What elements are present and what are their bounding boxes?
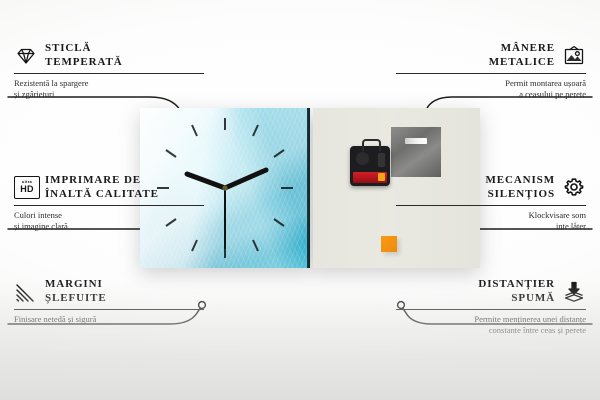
diagonal-lines-icon: [14, 280, 38, 304]
glass-edge: [307, 108, 310, 268]
movement-tab: [378, 153, 385, 167]
callout-rule: [14, 309, 204, 310]
gear-icon: [562, 176, 586, 200]
infographic-canvas: STICLĂ TEMPERATĂ Rezistentă la spargere …: [0, 0, 600, 400]
callout-title: MECANISM SILENȚIOS: [485, 174, 555, 202]
callout-title: DISTANȚIER SPUMĂ: [478, 278, 555, 306]
callout-subtitle: Finisare netedă și sigură: [14, 314, 204, 325]
second-hand: [225, 170, 266, 188]
ultra-hd-icon: ultra HD: [14, 176, 38, 200]
callout-rule: [396, 205, 586, 206]
callout-manere-metalice: MÂNERE METALICE Permit montarea ușoară a…: [396, 42, 586, 100]
callout-rule: [396, 73, 586, 74]
callout-title: IMPRIMARE DE ÎNALTĂ CALITATE: [45, 174, 159, 202]
foam-spacer-icon: [562, 280, 586, 304]
clock-center-pin: [222, 185, 227, 190]
callout-imprimare-hd: ultra HD IMPRIMARE DE ÎNALTĂ CALITATE Cu…: [14, 174, 204, 232]
picture-frame-icon: [562, 44, 586, 68]
battery-plus-terminal: [378, 173, 385, 181]
foam-spacer: [381, 236, 397, 252]
callout-subtitle: Culori intense și imagine clară: [14, 210, 204, 233]
callout-subtitle: Rezistentă la spargere și zgârieturi: [14, 78, 204, 101]
callout-margini-slefuite: MARGINI ȘLEFUITE Finisare netedă și sigu…: [14, 278, 204, 325]
callout-rule: [14, 205, 204, 206]
callout-subtitle: Klockvisare som inte låter: [396, 210, 586, 233]
diamond-icon: [14, 44, 38, 68]
callout-subtitle: Permit montarea ușoară a ceasului pe per…: [396, 78, 586, 101]
quartz-movement: [350, 146, 390, 186]
callout-title: STICLĂ TEMPERATĂ: [45, 42, 123, 70]
metal-hanger: [391, 127, 441, 177]
hanger-slot: [405, 138, 427, 144]
callout-sticla-temperata: STICLĂ TEMPERATĂ Rezistentă la spargere …: [14, 42, 204, 100]
callout-subtitle: Permite menținerea unei distanțe constan…: [396, 314, 586, 337]
callout-title: MÂNERE METALICE: [489, 42, 555, 70]
callout-title: MARGINI ȘLEFUITE: [45, 278, 107, 306]
movement-hanging-loop: [362, 139, 381, 151]
callout-rule: [396, 309, 586, 310]
battery: [353, 172, 387, 183]
callout-mecanism-silentios: MECANISM SILENȚIOS Klockvisare som inte …: [396, 174, 586, 232]
callout-distantier-spuma: DISTANȚIER SPUMĂ Permite menținerea unei…: [396, 278, 586, 336]
callout-rule: [14, 73, 204, 74]
movement-adjust-dial: [356, 152, 369, 165]
